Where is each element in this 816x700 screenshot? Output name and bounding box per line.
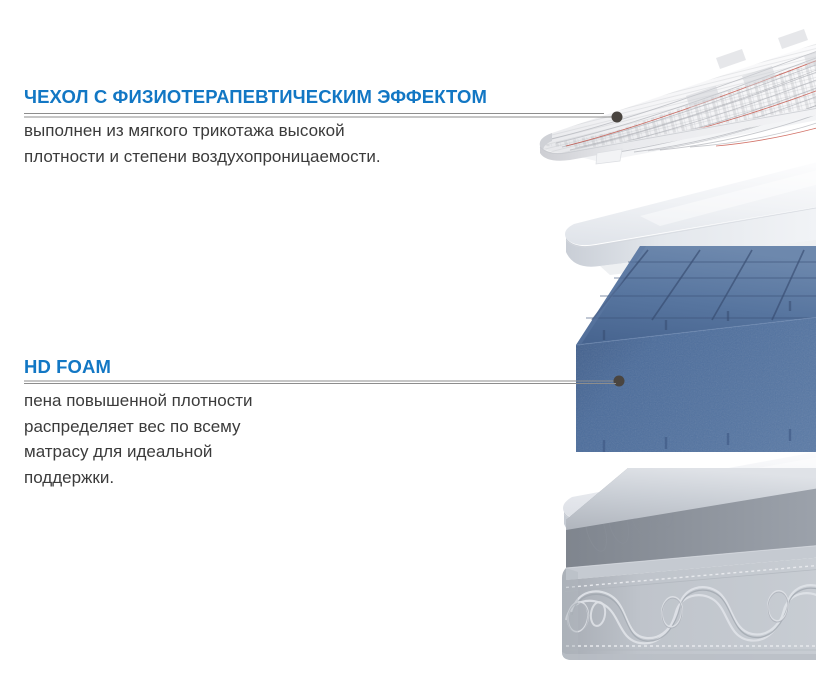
layer-spring-base: [560, 468, 816, 660]
callout-hd-foam: HD FOAM пена повышенной плотности распре…: [24, 356, 616, 490]
callout-hd-foam-body: пена повышенной плотности распределяет в…: [24, 388, 616, 490]
callout-hd-foam-title: HD FOAM: [24, 356, 616, 378]
callout-cover: ЧЕХОЛ С ФИЗИОТЕРАПЕВТИЧЕСКИМ ЭФФЕКТОМ вы…: [24, 86, 604, 169]
infographic-canvas: ЧЕХОЛ С ФИЗИОТЕРАПЕВТИЧЕСКИМ ЭФФЕКТОМ вы…: [0, 0, 816, 700]
callout-cover-body: выполнен из мягкого трикотажа высокой пл…: [24, 118, 604, 169]
callout-hd-foam-rule: [24, 383, 616, 384]
callout-cover-title: ЧЕХОЛ С ФИЗИОТЕРАПЕВТИЧЕСКИМ ЭФФЕКТОМ: [24, 86, 604, 108]
callout-cover-rule: [24, 113, 604, 114]
